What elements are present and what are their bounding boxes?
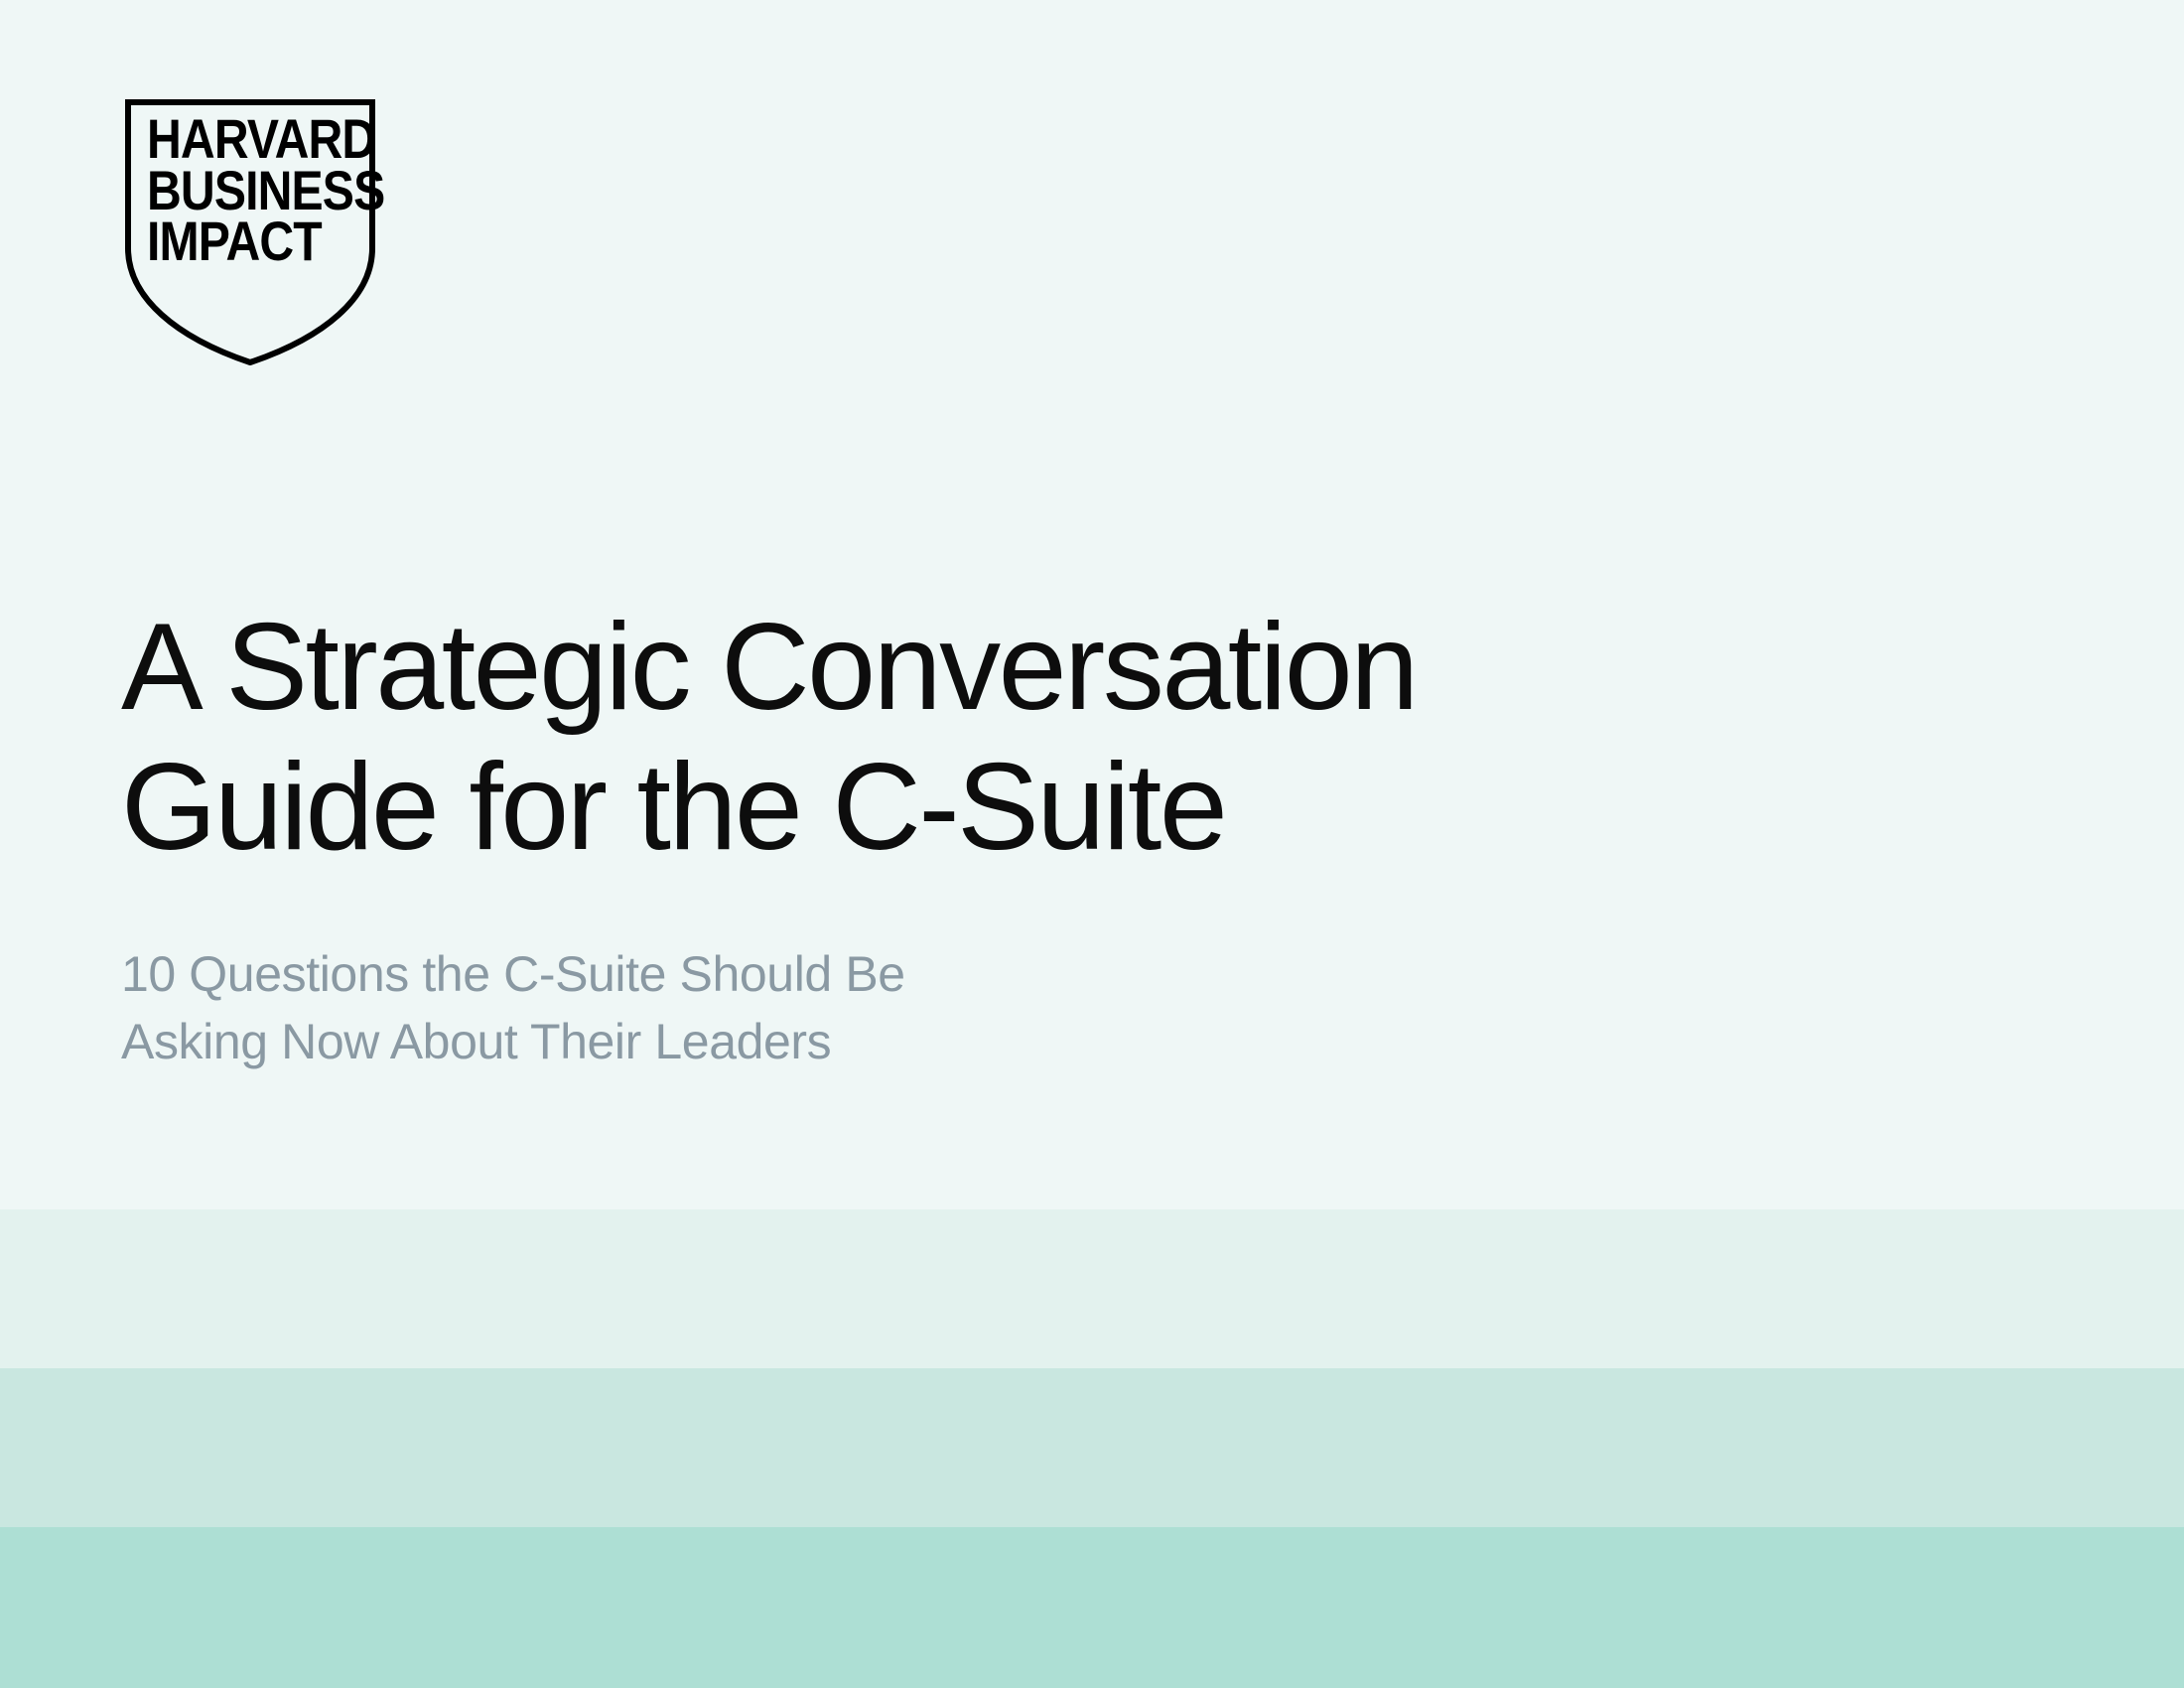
headline-block: A Strategic Conversation Guide for the C… bbox=[121, 598, 1908, 1075]
logo-line-business: BUSINESS bbox=[147, 165, 327, 216]
color-band-group bbox=[0, 1209, 2184, 1688]
page-subtitle-line-1: 10 Questions the C-Suite Should Be bbox=[121, 940, 1908, 1008]
page-title-line-1: A Strategic Conversation bbox=[121, 598, 1908, 738]
color-band-mint bbox=[0, 1527, 2184, 1688]
color-band-pale-mint bbox=[0, 1209, 2184, 1368]
page-subtitle: 10 Questions the C-Suite Should Be Askin… bbox=[121, 879, 1908, 1075]
harvard-business-impact-logo: HARVARD BUSINESS IMPACT bbox=[125, 99, 375, 365]
page-title: A Strategic Conversation Guide for the C… bbox=[121, 598, 1908, 879]
color-band-light-mint bbox=[0, 1368, 2184, 1527]
logo-line-impact: IMPACT bbox=[147, 215, 327, 267]
logo-line-harvard: HARVARD bbox=[147, 113, 327, 165]
page-title-line-2: Guide for the C-Suite bbox=[121, 738, 1908, 878]
page-subtitle-line-2: Asking Now About Their Leaders bbox=[121, 1008, 1908, 1075]
logo-wordmark: HARVARD BUSINESS IMPACT bbox=[147, 113, 327, 267]
cover-page: HARVARD BUSINESS IMPACT A Strategic Conv… bbox=[0, 0, 2184, 1688]
